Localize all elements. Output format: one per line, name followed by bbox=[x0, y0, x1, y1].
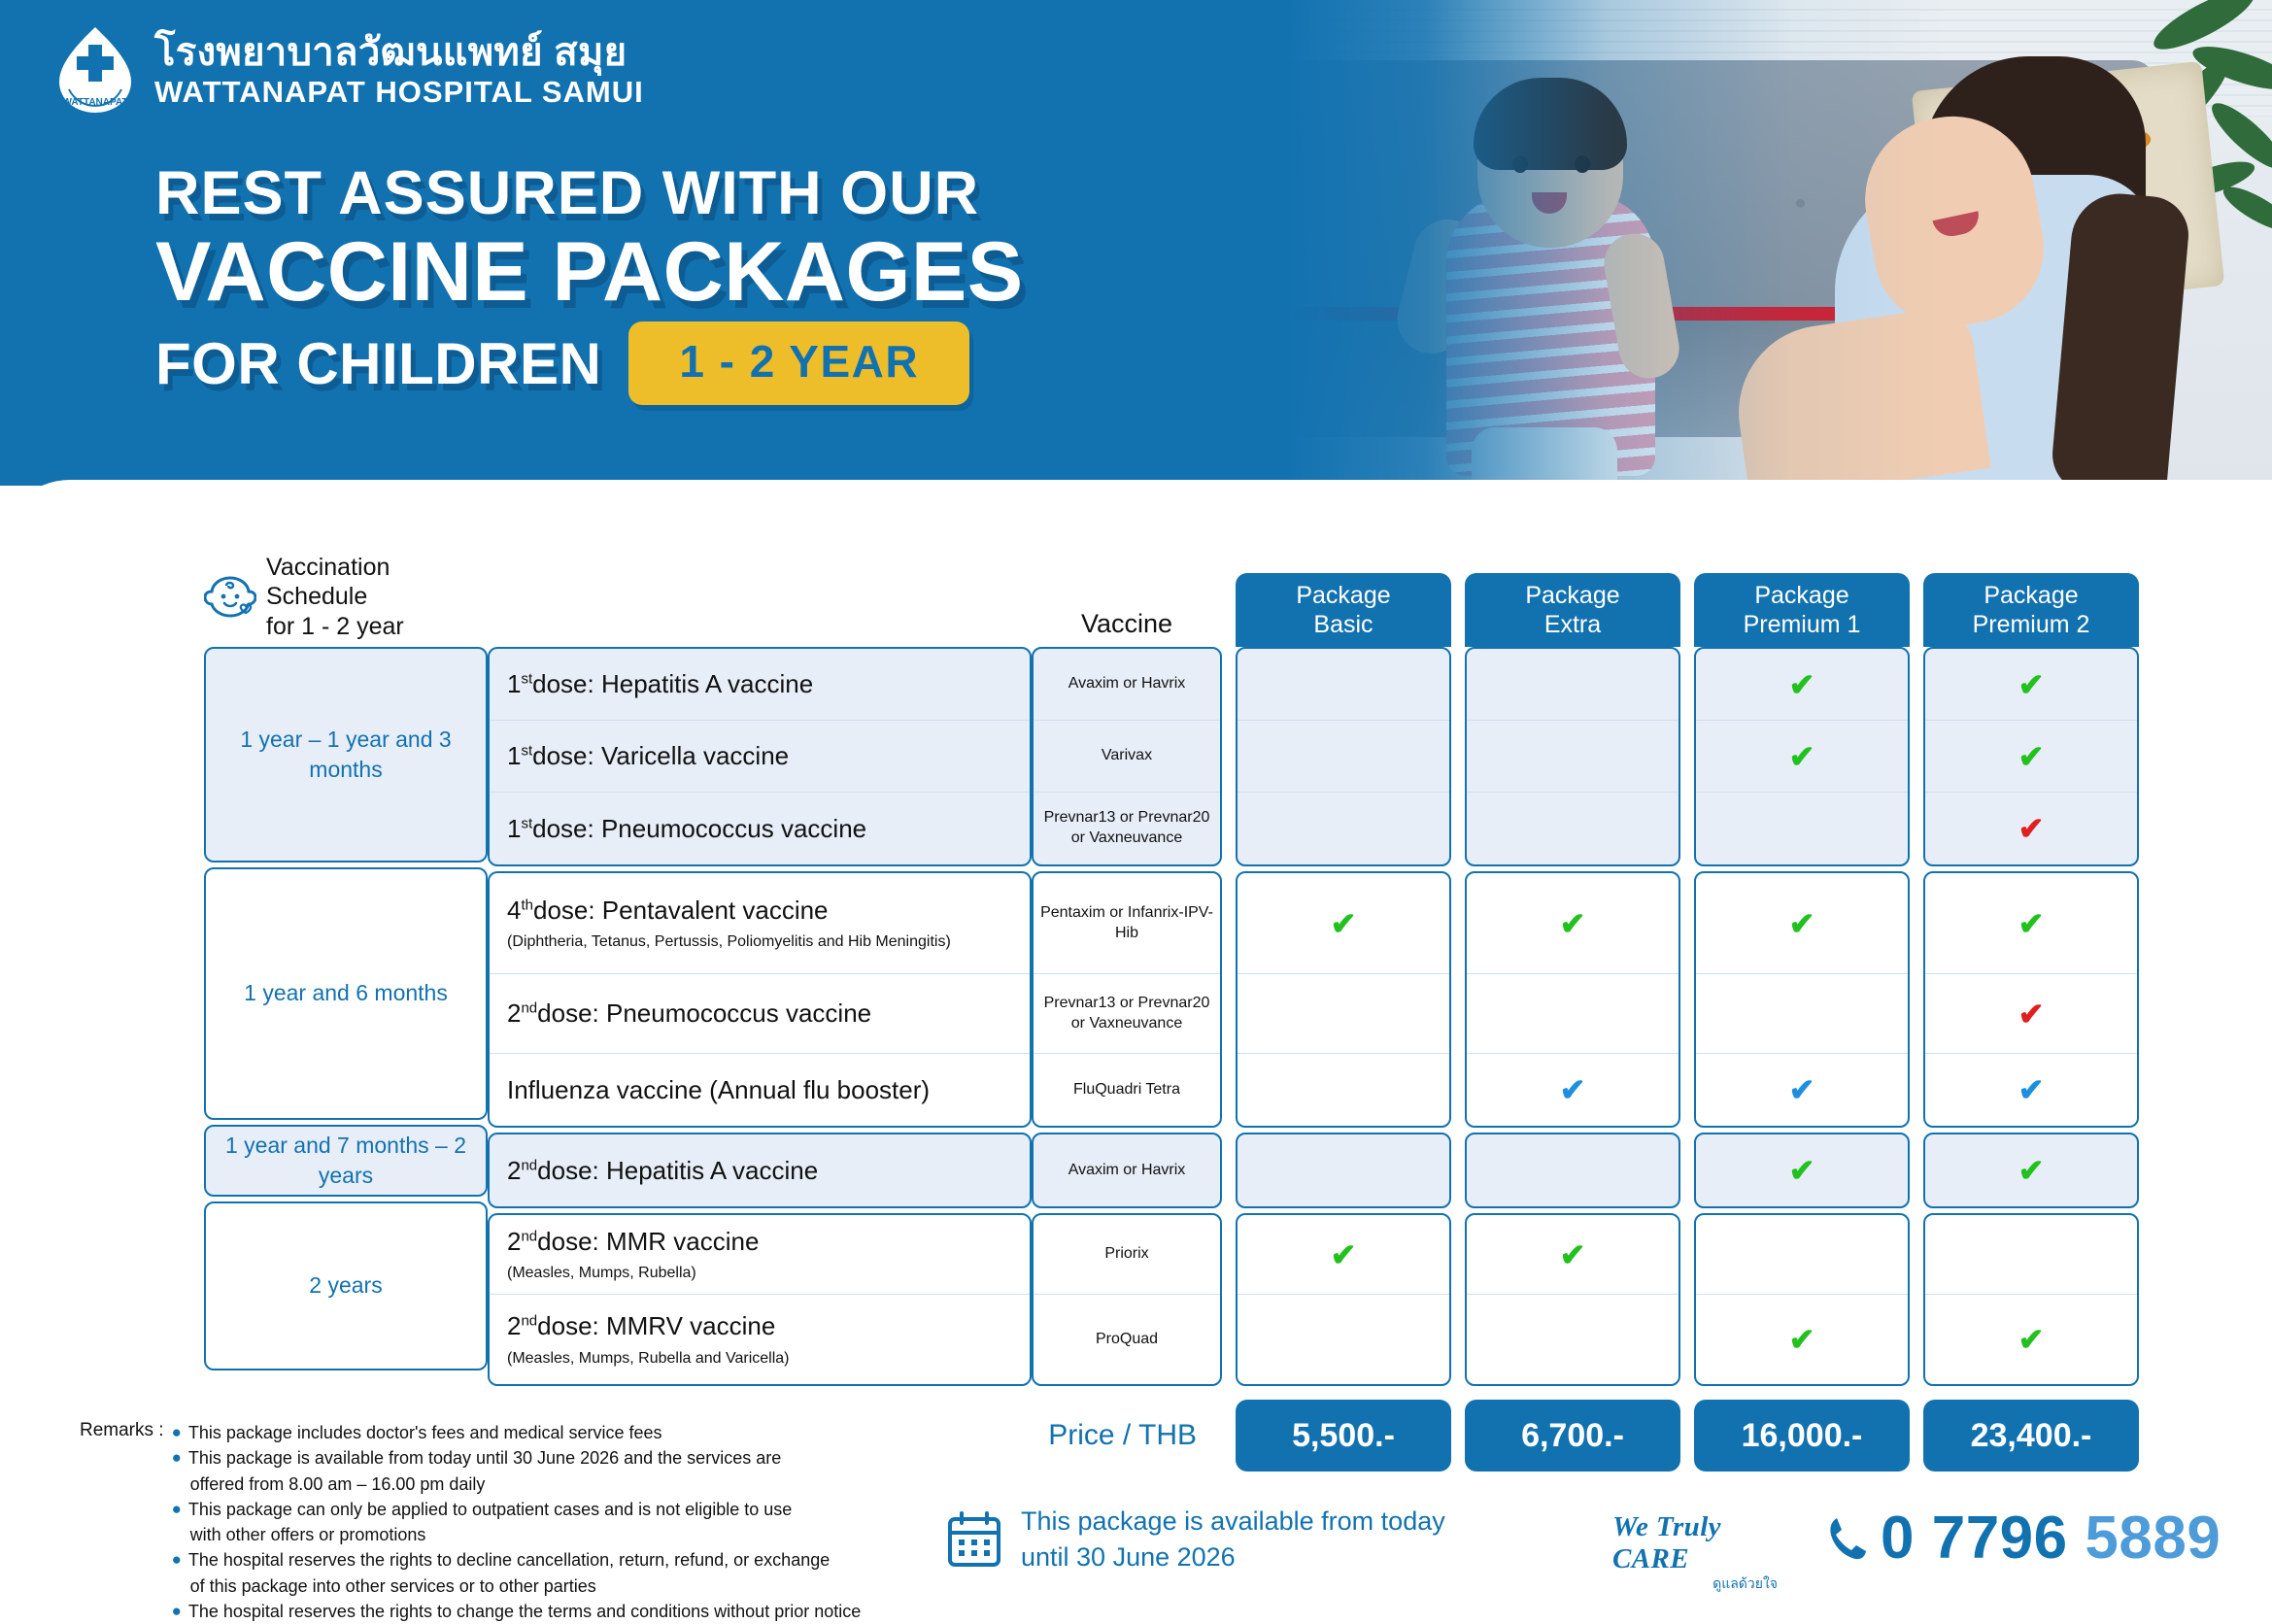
phone-number-part-1: 0 7796 bbox=[1881, 1505, 2068, 1572]
remarks-section: Remarks : ●This package includes doctor'… bbox=[80, 1420, 954, 1624]
dose-title: 4thdose: Pentavalent vaccine bbox=[507, 895, 1030, 927]
checkmark-green-icon: ✔ bbox=[1238, 905, 1449, 942]
vaccine-group: Avaxim or Havrix bbox=[1032, 1133, 1222, 1208]
availability-notice: This package is available from today unt… bbox=[947, 1504, 1445, 1576]
dose-ordinal-suffix: nd bbox=[521, 1228, 537, 1244]
vaccine-cell: Prevnar13 or Prevnar20 or Vaxneuvance bbox=[1034, 793, 1220, 864]
dose-cell: 1stdose: Varicella vaccine bbox=[490, 721, 1030, 793]
price-premium-2: 23,400.- bbox=[1923, 1400, 2139, 1472]
tagline-thai-text: ดูแลด้วยใจ bbox=[1612, 1573, 1778, 1595]
package-mark-cell bbox=[1467, 649, 1679, 721]
package-mark-cell: ✔ bbox=[1238, 873, 1449, 974]
checkmark-green-icon: ✔ bbox=[1696, 1321, 1908, 1358]
vaccine-cell: ProQuad bbox=[1034, 1295, 1220, 1384]
dose-group: 4thdose: Pentavalent vaccine(Diphtheria,… bbox=[488, 871, 1032, 1128]
schedule-title-line2: for 1 - 2 year bbox=[266, 612, 488, 642]
dose-cell: 2nddose: Pneumococcus vaccine bbox=[490, 974, 1030, 1054]
package-mark-cell bbox=[1925, 1215, 2137, 1295]
package-group bbox=[1465, 1133, 1680, 1208]
calendar-icon bbox=[947, 1511, 1001, 1568]
package-group: ✔ bbox=[1923, 1213, 2139, 1386]
package-header-basic[interactable]: PackageBasic bbox=[1236, 573, 1451, 647]
package-header-extra[interactable]: PackageExtra bbox=[1465, 573, 1680, 647]
vaccine-brand-name: ProQuad bbox=[1034, 1330, 1220, 1350]
checkmark-red-icon: ✔ bbox=[1925, 996, 2137, 1032]
dose-number: 1 bbox=[507, 814, 521, 843]
vaccine-schedule-table: Vaccination Schedule for 1 - 2 year Vacc… bbox=[204, 561, 2139, 1472]
package-mark-cell bbox=[1696, 974, 1908, 1054]
vaccine-column: Avaxim or HavrixVarivaxPrevnar13 or Prev… bbox=[1032, 647, 1222, 1391]
package-mark-cell bbox=[1696, 1215, 1908, 1295]
package-mark-cell: ✔ bbox=[1696, 1134, 1908, 1206]
age-group-label: 1 year – 1 year and 3 months bbox=[206, 725, 486, 785]
package-mark-cell bbox=[1238, 974, 1449, 1054]
schedule-title-line1: Vaccination Schedule bbox=[266, 553, 488, 612]
phone-contact[interactable]: 0 7796 5889 bbox=[1826, 1504, 2221, 1573]
table-body: 1 year – 1 year and 3 months1 year and 6… bbox=[204, 647, 2139, 1391]
dose-title: 2nddose: MMRV vaccine bbox=[507, 1310, 1030, 1342]
package-header-premium-2[interactable]: PackagePremium 2 bbox=[1923, 573, 2139, 647]
package-mark-cell: ✔ bbox=[1696, 1295, 1908, 1384]
package-mark-cell bbox=[1238, 1054, 1449, 1126]
dose-subtitle: (Measles, Mumps, Rubella) bbox=[507, 1264, 1030, 1283]
package-mark-cell bbox=[1467, 793, 1679, 864]
dose-ordinal-suffix: st bbox=[521, 815, 532, 831]
vaccine-brand-name: Varivax bbox=[1034, 746, 1220, 766]
remark-item: ●This package includes doctor's fees and… bbox=[172, 1420, 862, 1445]
vaccine-group: Pentaxim or Infanrix-IPV-HibPrevnar13 or… bbox=[1032, 871, 1222, 1128]
dose-number: 2 bbox=[507, 1311, 521, 1340]
vaccine-cell: Prevnar13 or Prevnar20 or Vaxneuvance bbox=[1034, 974, 1220, 1054]
dose-title: 2nddose: MMR vaccine bbox=[507, 1226, 1030, 1258]
age-group-label: 2 years bbox=[206, 1270, 486, 1301]
package-mark-cell: ✔ bbox=[1696, 873, 1908, 974]
package-mark-cell: ✔ bbox=[1696, 721, 1908, 793]
checkmark-green-icon: ✔ bbox=[1696, 1152, 1908, 1189]
checkmark-blue-icon: ✔ bbox=[1467, 1071, 1679, 1108]
remark-item: ●This package is available from today un… bbox=[172, 1445, 862, 1497]
vaccine-brand-name: Prevnar13 or Prevnar20 or Vaxneuvance bbox=[1034, 994, 1220, 1034]
package-mark-cell: ✔ bbox=[1925, 1054, 2137, 1126]
checkmark-red-icon: ✔ bbox=[1925, 810, 2137, 847]
dose-group: 2nddose: MMR vaccine(Measles, Mumps, Rub… bbox=[488, 1213, 1032, 1386]
phone-icon bbox=[1826, 1515, 1867, 1562]
dose-cell: 1stdose: Hepatitis A vaccine bbox=[490, 649, 1030, 721]
package-mark-cell bbox=[1467, 1134, 1679, 1206]
package-mark-cell: ✔ bbox=[1925, 873, 2137, 974]
availability-line-1: This package is available from today bbox=[1021, 1504, 1445, 1539]
checkmark-green-icon: ✔ bbox=[1925, 1152, 2137, 1189]
price-extra: 6,700.- bbox=[1465, 1400, 1680, 1472]
price-basic: 5,500.- bbox=[1236, 1400, 1451, 1472]
package-column-premium-1: ✔✔✔✔✔✔ bbox=[1694, 647, 1910, 1391]
remark-continuation: offered from 8.00 am – 16.00 pm daily bbox=[172, 1472, 862, 1497]
age-group-cell: 1 year and 6 months bbox=[204, 867, 488, 1120]
package-column-basic: ✔✔ bbox=[1236, 647, 1451, 1391]
package-group: ✔ bbox=[1236, 871, 1451, 1128]
tagline-text: We Truly CARE bbox=[1612, 1511, 1778, 1575]
package-header-premium-1[interactable]: PackagePremium 1 bbox=[1694, 573, 1910, 647]
checkmark-green-icon: ✔ bbox=[1925, 1321, 2137, 1358]
checkmark-green-icon: ✔ bbox=[1696, 666, 1908, 703]
package-mark-cell: ✔ bbox=[1925, 1134, 2137, 1206]
dose-ordinal-suffix: th bbox=[521, 897, 533, 913]
package-mark-cell bbox=[1467, 1295, 1679, 1384]
package-mark-cell: ✔ bbox=[1696, 649, 1908, 721]
age-group-cell: 1 year – 1 year and 3 months bbox=[204, 647, 488, 863]
package-group: ✔ bbox=[1465, 1213, 1680, 1386]
package-group: ✔✔ bbox=[1694, 871, 1910, 1128]
checkmark-green-icon: ✔ bbox=[1925, 666, 2137, 703]
package-group bbox=[1465, 647, 1680, 866]
age-group-label: 1 year and 6 months bbox=[206, 978, 486, 1008]
remark-text: This package includes doctor's fees and … bbox=[188, 1420, 662, 1445]
bullet-icon: ● bbox=[172, 1497, 188, 1522]
package-group: ✔ bbox=[1923, 1133, 2139, 1208]
dose-cell: 2nddose: Hepatitis A vaccine bbox=[490, 1134, 1030, 1206]
vaccine-cell: Avaxim or Havrix bbox=[1034, 1134, 1220, 1206]
dose-number: 1 bbox=[507, 669, 521, 698]
we-truly-care-logo: We Truly CARE ดูแลด้วยใจ bbox=[1612, 1511, 1778, 1595]
vaccine-brand-name: Priorix bbox=[1034, 1244, 1220, 1265]
checkmark-blue-icon: ✔ bbox=[1696, 1071, 1908, 1108]
hero-gradient-overlay bbox=[1126, 0, 2272, 486]
dose-title: 1stdose: Hepatitis A vaccine bbox=[507, 668, 1030, 700]
age-group-cell: 1 year and 7 months – 2 years bbox=[204, 1125, 488, 1197]
dose-subtitle: (Diphtheria, Tetanus, Pertussis, Poliomy… bbox=[507, 932, 1030, 952]
package-mark-cell bbox=[1238, 1134, 1449, 1206]
vaccine-brand-name: Prevnar13 or Prevnar20 or Vaxneuvance bbox=[1034, 808, 1220, 849]
package-group: ✔✔ bbox=[1465, 871, 1680, 1128]
package-mark-cell: ✔ bbox=[1467, 1054, 1679, 1126]
package-group bbox=[1236, 1133, 1451, 1208]
age-range-badge: 1 - 2 YEAR bbox=[628, 321, 969, 405]
vaccine-group: PriorixProQuad bbox=[1032, 1213, 1222, 1386]
dose-title: Influenza vaccine (Annual flu booster) bbox=[507, 1074, 1030, 1106]
package-group: ✔ bbox=[1694, 1213, 1910, 1386]
table-header-row: Vaccination Schedule for 1 - 2 year Vacc… bbox=[204, 561, 2139, 647]
wattanapat-logo-icon: WATTANAPAT bbox=[53, 25, 137, 115]
remark-text: This package can only be applied to outp… bbox=[188, 1497, 792, 1522]
dose-title: 1stdose: Pneumococcus vaccine bbox=[507, 813, 1030, 845]
dose-number: 2 bbox=[507, 1156, 521, 1185]
age-column: 1 year – 1 year and 3 months1 year and 6… bbox=[204, 647, 488, 1391]
age-group-label: 1 year and 7 months – 2 years bbox=[206, 1131, 486, 1191]
vaccine-column-header: Vaccine bbox=[1032, 609, 1222, 647]
dose-number: 2 bbox=[507, 998, 521, 1028]
package-mark-cell: ✔ bbox=[1925, 793, 2137, 864]
package-mark-cell bbox=[1696, 793, 1908, 864]
package-group: ✔✔ bbox=[1694, 647, 1910, 866]
vaccine-cell: FluQuadri Tetra bbox=[1034, 1054, 1220, 1126]
package-mark-cell: ✔ bbox=[1467, 1215, 1679, 1295]
package-column-extra: ✔✔✔ bbox=[1465, 647, 1680, 1391]
price-premium-1: 16,000.- bbox=[1694, 1400, 1910, 1472]
dose-ordinal-suffix: nd bbox=[521, 1157, 537, 1173]
package-mark-cell: ✔ bbox=[1925, 974, 2137, 1054]
checkmark-green-icon: ✔ bbox=[1696, 905, 1908, 942]
dose-number: 4 bbox=[507, 896, 521, 925]
dose-ordinal-suffix: st bbox=[521, 671, 532, 688]
package-group: ✔ bbox=[1694, 1133, 1910, 1208]
package-mark-cell bbox=[1467, 721, 1679, 793]
vaccine-brand-name: Avaxim or Havrix bbox=[1034, 1161, 1220, 1181]
vaccine-cell: Pentaxim or Infanrix-IPV-Hib bbox=[1034, 873, 1220, 974]
remark-text: This package is available from today unt… bbox=[188, 1445, 781, 1471]
dose-number: 1 bbox=[507, 741, 521, 770]
vaccine-group: Avaxim or HavrixVarivaxPrevnar13 or Prev… bbox=[1032, 647, 1222, 866]
checkmark-green-icon: ✔ bbox=[1238, 1236, 1449, 1273]
bullet-icon: ● bbox=[172, 1547, 188, 1573]
package-column-premium-2: ✔✔✔✔✔✔✔✔ bbox=[1923, 647, 2139, 1391]
dose-ordinal-suffix: nd bbox=[521, 1313, 537, 1330]
vaccine-cell: Avaxim or Havrix bbox=[1034, 649, 1220, 721]
vaccine-brand-name: FluQuadri Tetra bbox=[1034, 1080, 1220, 1100]
dose-ordinal-suffix: st bbox=[521, 743, 532, 760]
checkmark-green-icon: ✔ bbox=[1696, 738, 1908, 775]
dose-title: 2nddose: Hepatitis A vaccine bbox=[507, 1155, 1030, 1187]
availability-line-2: until 30 June 2026 bbox=[1021, 1539, 1445, 1575]
phone-number-part-2: 5889 bbox=[2085, 1505, 2221, 1572]
dose-column: 1stdose: Hepatitis A vaccine1stdose: Var… bbox=[488, 647, 1032, 1391]
remark-continuation: of this package into other services or t… bbox=[172, 1573, 862, 1599]
remark-item: ●The hospital reserves the rights to dec… bbox=[172, 1547, 862, 1599]
package-group: ✔✔✔ bbox=[1923, 647, 2139, 866]
dose-title: 1stdose: Varicella vaccine bbox=[507, 740, 1030, 772]
package-group bbox=[1236, 647, 1451, 866]
remark-item: ●This package can only be applied to out… bbox=[172, 1497, 862, 1548]
package-mark-cell: ✔ bbox=[1238, 1215, 1449, 1295]
dose-cell: Influenza vaccine (Annual flu booster) bbox=[490, 1054, 1030, 1126]
schedule-title-cell: Vaccination Schedule for 1 - 2 year bbox=[204, 553, 488, 648]
dose-group: 2nddose: Hepatitis A vaccine bbox=[488, 1133, 1032, 1208]
package-group: ✔✔✔ bbox=[1923, 871, 2139, 1128]
hero-headline: REST ASSURED WITH OUR VACCINE PACKAGES F… bbox=[155, 163, 1024, 405]
remarks-title: Remarks : bbox=[80, 1420, 172, 1624]
remark-continuation: with other offers or promotions bbox=[172, 1522, 862, 1547]
headline-line-3: FOR CHILDREN bbox=[155, 330, 601, 397]
dose-cell: 2nddose: MMR vaccine(Measles, Mumps, Rub… bbox=[490, 1215, 1030, 1295]
remark-text: The hospital reserves the rights to chan… bbox=[188, 1599, 861, 1624]
package-mark-cell bbox=[1238, 721, 1449, 793]
dose-ordinal-suffix: nd bbox=[521, 1000, 537, 1017]
package-mark-cell: ✔ bbox=[1925, 721, 2137, 793]
svg-text:WATTANAPAT: WATTANAPAT bbox=[62, 97, 127, 108]
checkmark-green-icon: ✔ bbox=[1467, 905, 1679, 942]
package-mark-cell bbox=[1467, 974, 1679, 1054]
package-mark-cell bbox=[1238, 793, 1449, 864]
package-mark-cell bbox=[1238, 649, 1449, 721]
vaccine-brand-name: Pentaxim or Infanrix-IPV-Hib bbox=[1034, 903, 1220, 944]
checkmark-green-icon: ✔ bbox=[1925, 905, 2137, 942]
package-mark-cell: ✔ bbox=[1467, 873, 1679, 974]
headline-line-2: VACCINE PACKAGES bbox=[155, 228, 1024, 316]
package-group: ✔ bbox=[1236, 1213, 1451, 1386]
baby-face-icon bbox=[204, 574, 256, 619]
checkmark-blue-icon: ✔ bbox=[1925, 1071, 2137, 1108]
vaccine-cell: Varivax bbox=[1034, 721, 1220, 793]
package-mark-cell: ✔ bbox=[1925, 649, 2137, 721]
remark-item: ●The hospital reserves the rights to cha… bbox=[172, 1599, 862, 1624]
vaccine-brand-name: Avaxim or Havrix bbox=[1034, 674, 1220, 694]
bullet-icon: ● bbox=[172, 1445, 188, 1471]
age-group-cell: 2 years bbox=[204, 1201, 488, 1370]
bullet-icon: ● bbox=[172, 1599, 188, 1624]
dose-number: 2 bbox=[507, 1227, 521, 1256]
dose-cell: 1stdose: Pneumococcus vaccine bbox=[490, 793, 1030, 864]
hero-photo bbox=[1126, 0, 2272, 486]
package-mark-cell: ✔ bbox=[1696, 1054, 1908, 1126]
remark-text: The hospital reserves the rights to decl… bbox=[188, 1547, 830, 1573]
checkmark-green-icon: ✔ bbox=[1925, 738, 2137, 775]
package-mark-cell: ✔ bbox=[1925, 1295, 2137, 1384]
logo-english-name: WATTANAPAT HOSPITAL SAMUI bbox=[154, 77, 644, 107]
bullet-icon: ● bbox=[172, 1420, 188, 1445]
dose-cell: 4thdose: Pentavalent vaccine(Diphtheria,… bbox=[490, 873, 1030, 974]
vaccine-cell: Priorix bbox=[1034, 1215, 1220, 1295]
dose-group: 1stdose: Hepatitis A vaccine1stdose: Var… bbox=[488, 647, 1032, 866]
checkmark-green-icon: ✔ bbox=[1467, 1236, 1679, 1273]
hero-banner: WATTANAPAT โรงพยาบาลวัฒนแพทย์ สมุย WATTA… bbox=[0, 0, 2272, 486]
dose-title: 2nddose: Pneumococcus vaccine bbox=[507, 998, 1030, 1030]
headline-line-1: REST ASSURED WITH OUR bbox=[155, 163, 1024, 224]
hospital-logo: WATTANAPAT โรงพยาบาลวัฒนแพทย์ สมุย WATTA… bbox=[53, 25, 644, 115]
dose-subtitle: (Measles, Mumps, Rubella and Varicella) bbox=[507, 1349, 1030, 1369]
package-mark-cell bbox=[1238, 1295, 1449, 1384]
remarks-list: ●This package includes doctor's fees and… bbox=[172, 1420, 862, 1624]
dose-cell: 2nddose: MMRV vaccine(Measles, Mumps, Ru… bbox=[490, 1295, 1030, 1384]
logo-thai-name: โรงพยาบาลวัฒนแพทย์ สมุย bbox=[154, 33, 644, 72]
